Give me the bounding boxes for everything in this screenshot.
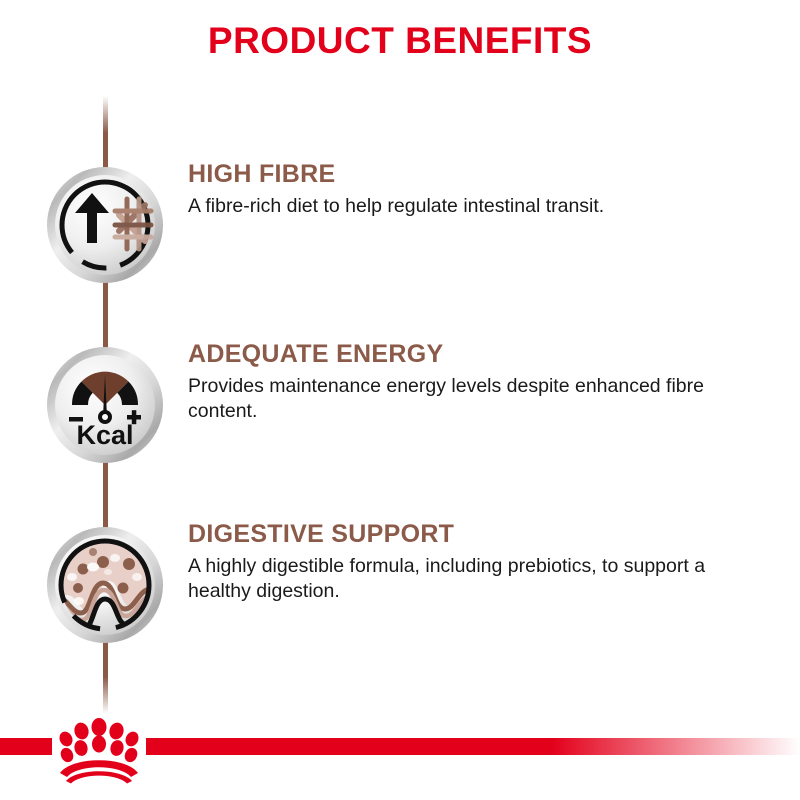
benefit-title: ADEQUATE ENERGY [188,340,768,369]
benefit-text-digestive-support: DIGESTIVE SUPPORT A highly digestible fo… [188,520,768,605]
benefit-description: A fibre-rich diet to help regulate intes… [188,194,748,220]
digestive-wave-icon [45,525,165,645]
benefit-title: HIGH FIBRE [188,160,768,189]
royal-canin-crown-logo [52,713,146,785]
benefit-description: A highly digestible formula, including p… [188,554,748,605]
benefit-description: Provides maintenance energy levels despi… [188,374,748,425]
kcal-label: Kcal [76,420,133,450]
product-benefits-page: PRODUCT BENEFITS [0,0,800,800]
fibre-arrow-mesh-icon [45,165,165,285]
kcal-gauge-icon: Kcal [45,345,165,465]
page-title: PRODUCT BENEFITS [0,22,800,61]
footer-bar-right [146,738,800,755]
benefit-title: DIGESTIVE SUPPORT [188,520,768,549]
benefit-text-adequate-energy: ADEQUATE ENERGY Provides maintenance ene… [188,340,768,425]
footer [0,710,800,800]
footer-bar-left [0,738,52,755]
benefit-text-high-fibre: HIGH FIBRE A fibre-rich diet to help reg… [188,160,768,219]
